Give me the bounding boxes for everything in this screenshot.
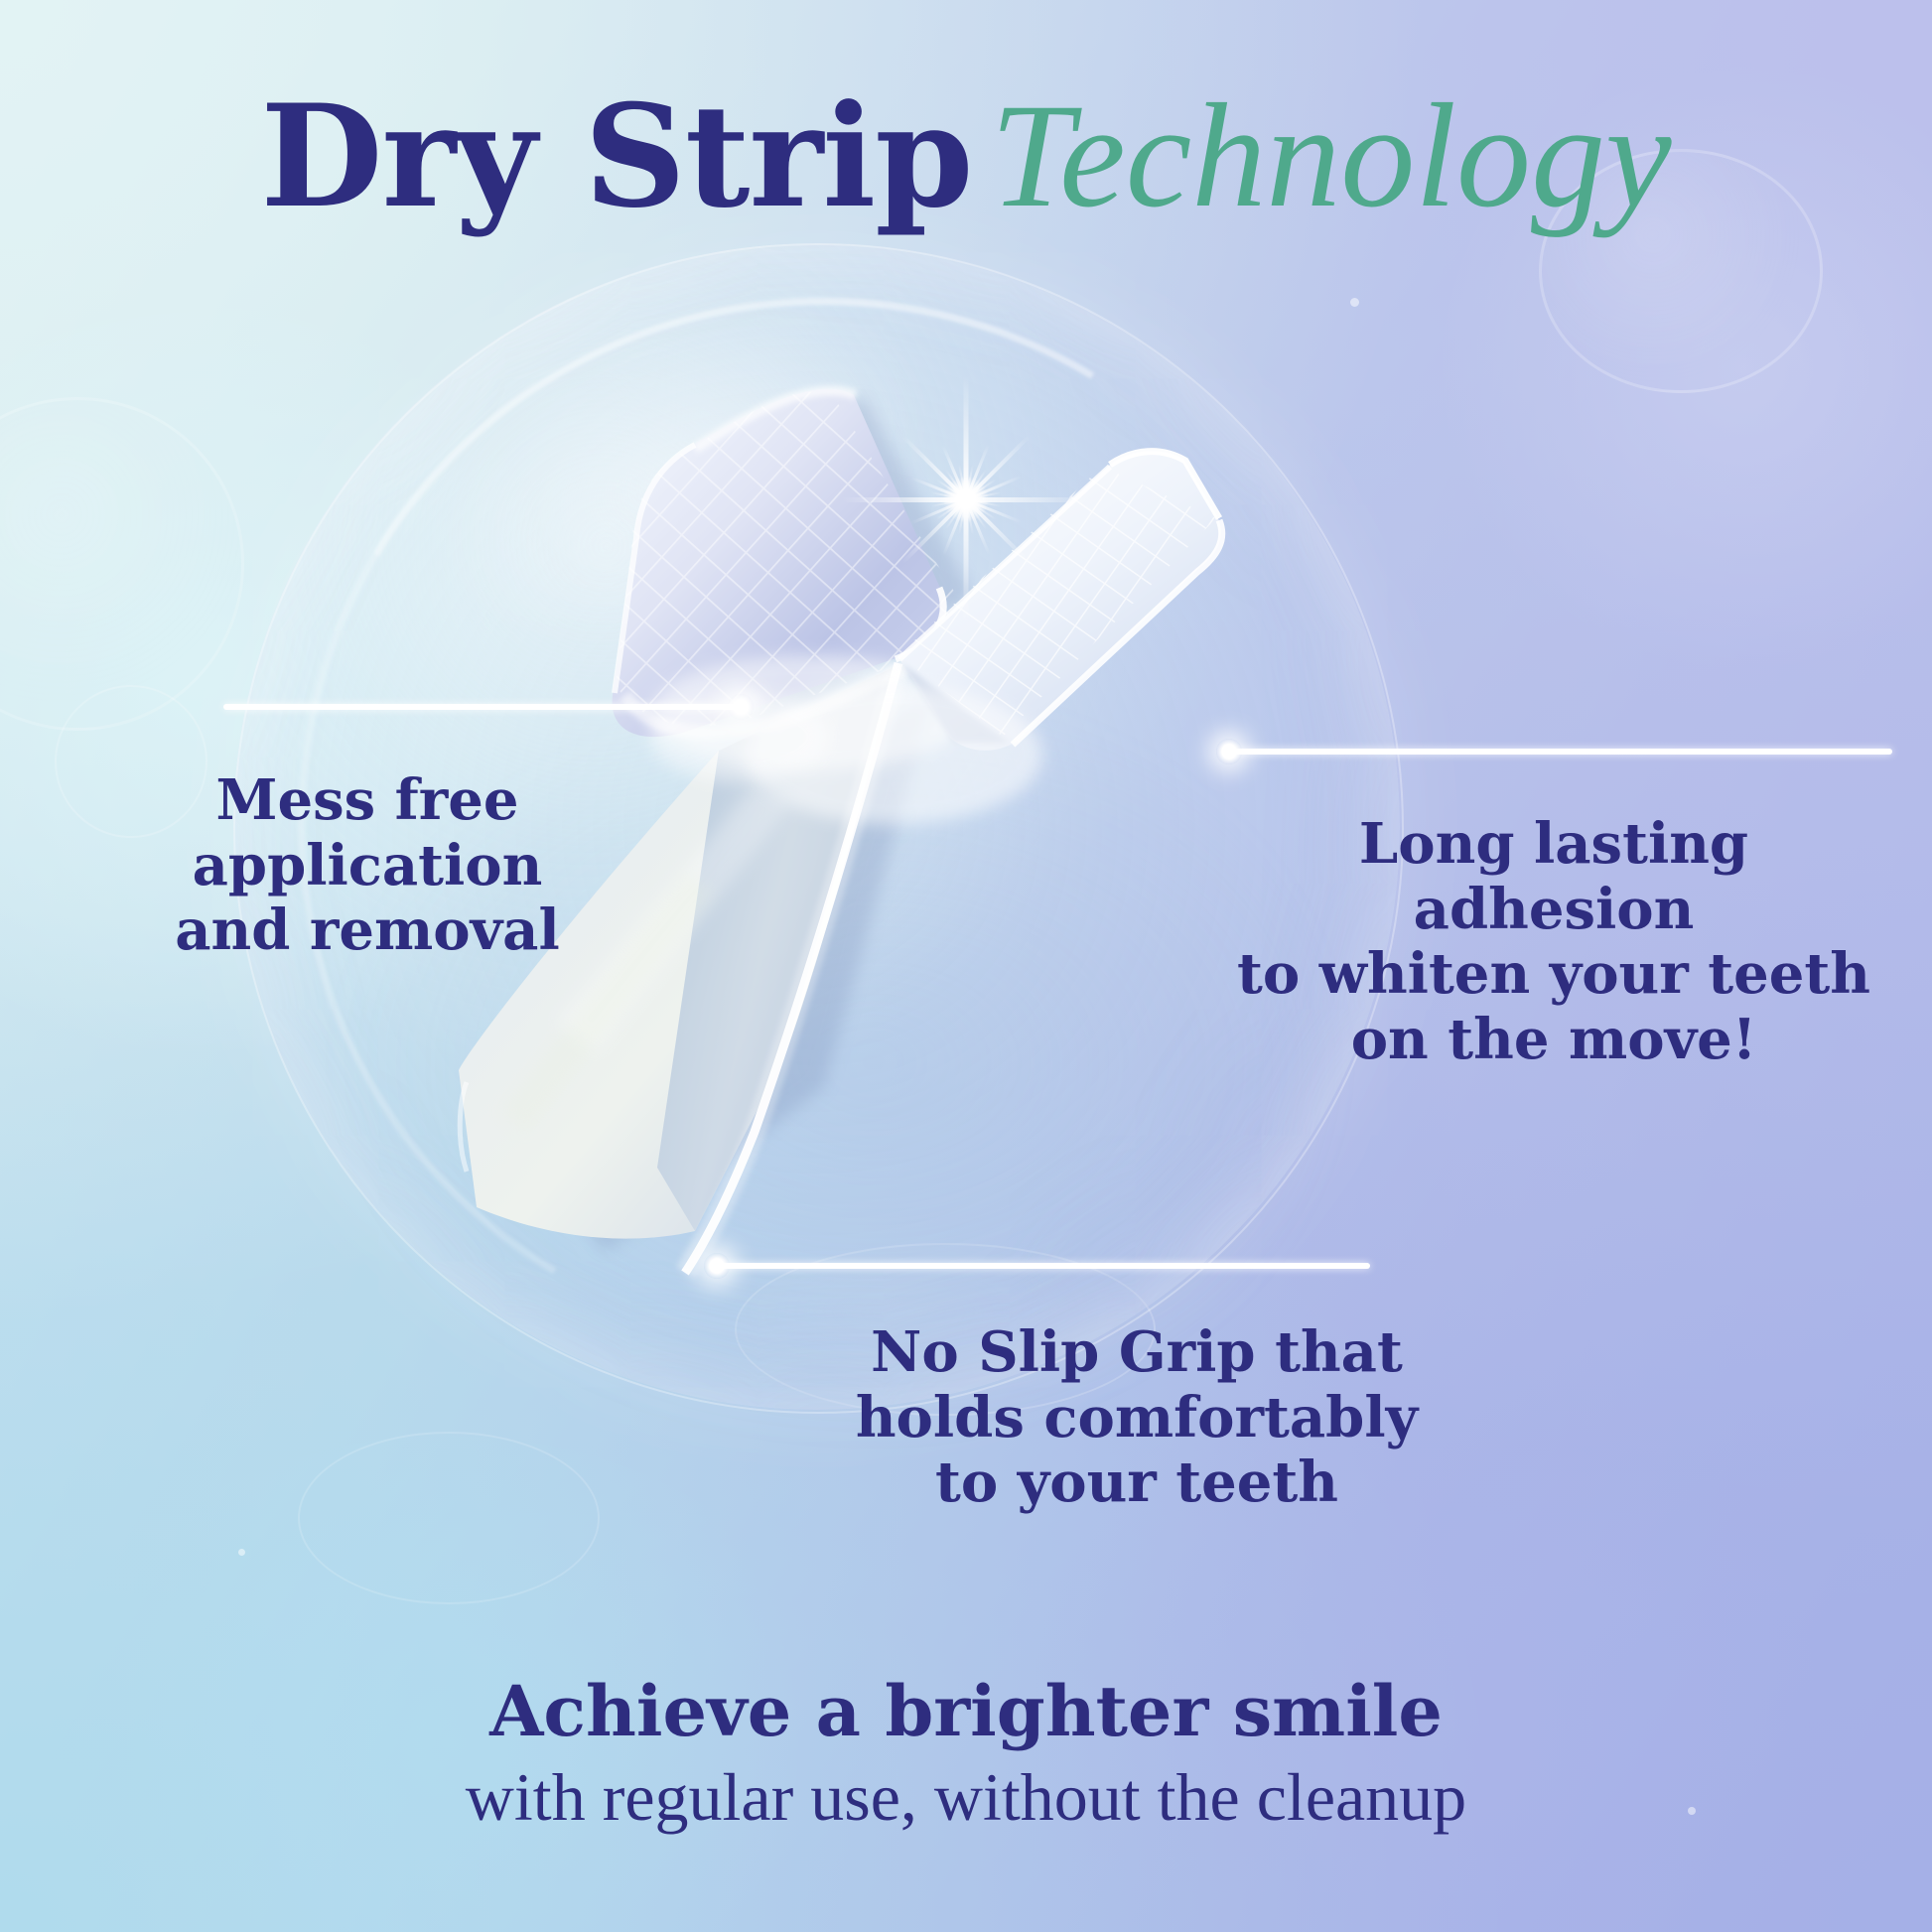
callout-line: to whiten your teeth xyxy=(1211,942,1896,1008)
callout-line: Long lasting adhesion xyxy=(1211,812,1896,942)
title-italic-part: Technology xyxy=(991,73,1672,238)
leader-line-right xyxy=(1229,749,1892,755)
callout-line: to your teeth xyxy=(849,1450,1425,1516)
page-title: Dry StripTechnology xyxy=(0,81,1932,230)
callout-long-lasting-adhesion: Long lasting adhesion to whiten your tee… xyxy=(1211,812,1896,1072)
tagline: Achieve a brighter smile with regular us… xyxy=(0,1673,1932,1837)
callout-line: and removal xyxy=(139,898,596,964)
leader-line-left xyxy=(223,704,740,710)
leader-dot-left xyxy=(728,694,754,720)
tagline-line-1: Achieve a brighter smile xyxy=(0,1673,1932,1750)
callout-mess-free: Mess free application and removal xyxy=(139,768,596,964)
promo-graphic: Dry StripTechnology Mess free applicatio… xyxy=(0,0,1932,1932)
tagline-line-2: with regular use, without the cleanup xyxy=(0,1757,1932,1837)
callout-line: on the move! xyxy=(1211,1008,1896,1073)
title-bold-part: Dry Strip xyxy=(260,74,972,239)
leader-line-bottom xyxy=(717,1263,1370,1269)
leader-dot-bottom xyxy=(704,1253,730,1279)
callout-no-slip-grip: No Slip Grip that holds comfortably to y… xyxy=(849,1320,1425,1516)
callout-line: application xyxy=(139,834,596,899)
callout-line: Mess free xyxy=(139,768,596,834)
callout-line: holds comfortably xyxy=(849,1386,1425,1451)
leader-dot-right xyxy=(1216,739,1242,764)
callout-line: No Slip Grip that xyxy=(849,1320,1425,1386)
